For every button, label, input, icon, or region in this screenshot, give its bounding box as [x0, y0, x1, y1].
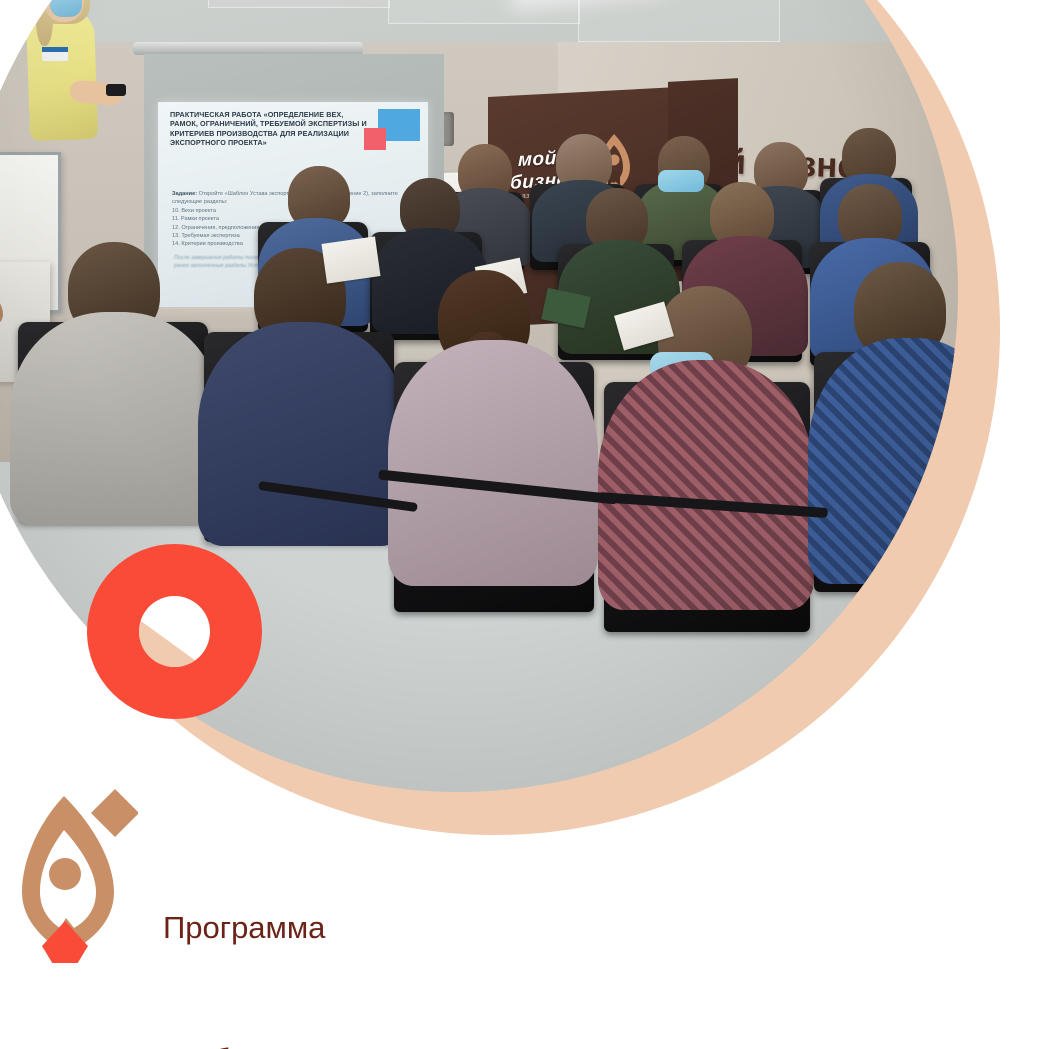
- red-ring-hole-peach-band: [139, 596, 210, 667]
- footer: Программа «Гибкие технологии управления»: [0, 770, 1049, 1049]
- peach-band-through-hole: [139, 596, 210, 667]
- program-title-line2: «Гибкие технологии управления»: [163, 1038, 643, 1049]
- poster-card: Мой бизнес инвестиц мой бизнес оказания …: [0, 0, 1049, 1049]
- program-title: Программа «Гибкие технологии управления»: [163, 818, 643, 1049]
- program-title-line1: Программа: [163, 906, 643, 950]
- rocket-pin-logo-icon: [18, 788, 138, 963]
